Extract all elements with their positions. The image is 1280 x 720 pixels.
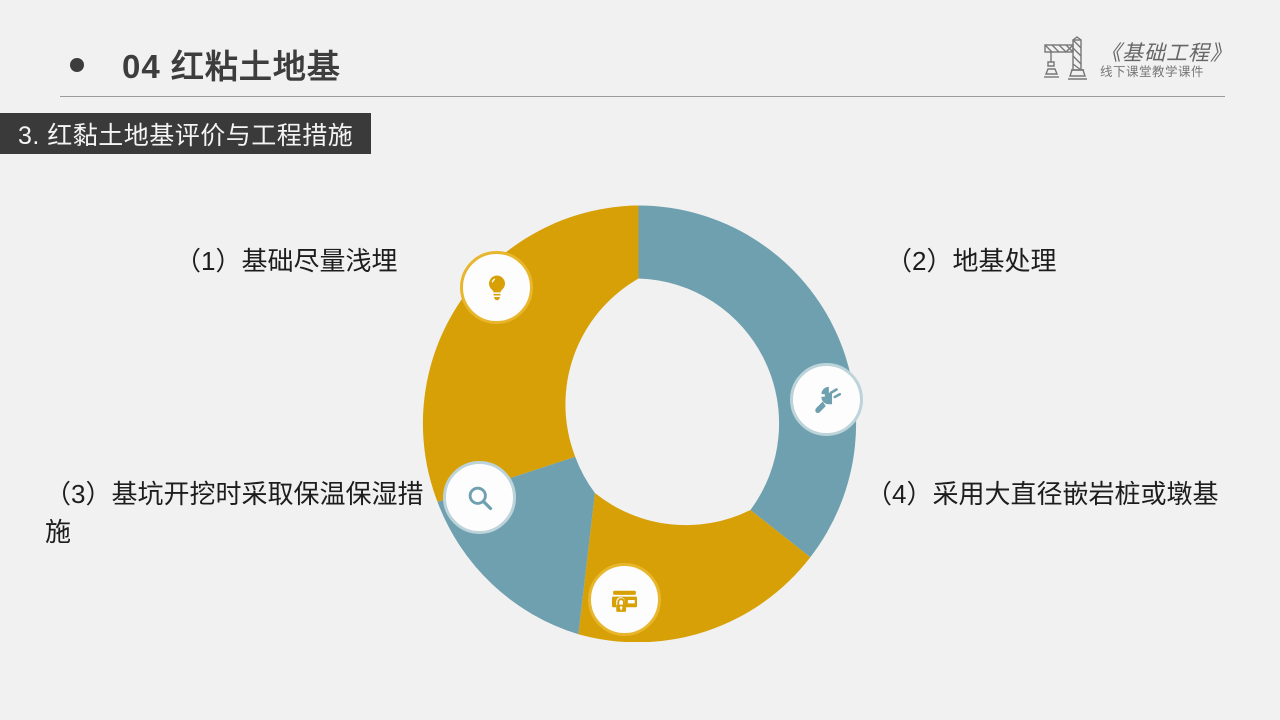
course-logo: 《基础工程》 线下课堂教学课件 bbox=[1042, 36, 1232, 84]
donut-segment-gold-left-top bbox=[423, 206, 639, 502]
card-lock-icon-badge[interactable] bbox=[588, 563, 661, 636]
bulb-icon bbox=[482, 273, 512, 303]
card-lock-icon bbox=[609, 584, 640, 615]
callout-label-2: （2）地基处理 bbox=[886, 243, 1056, 281]
header-divider bbox=[60, 96, 1225, 97]
search-icon-badge[interactable] bbox=[443, 461, 516, 534]
callout-label-3: （3）基坑开挖时采取保温保湿措施 bbox=[45, 476, 435, 551]
crane-icon bbox=[1042, 36, 1094, 84]
bulb-icon-badge[interactable] bbox=[460, 251, 533, 324]
search-icon bbox=[465, 483, 495, 513]
section-banner-label: 3. 红黏土地基评价与工程措施 bbox=[18, 116, 353, 152]
section-banner: 3. 红黏土地基评价与工程措施 bbox=[0, 113, 371, 154]
plug-icon-badge[interactable] bbox=[790, 363, 863, 436]
callout-label-4: （4）采用大直径嵌岩桩或墩基 bbox=[866, 476, 1246, 514]
plug-icon bbox=[812, 385, 842, 415]
bullet-dot-icon bbox=[70, 58, 84, 72]
callout-label-1: （1）基础尽量浅埋 bbox=[175, 243, 397, 281]
page-title: 04 红粘土地基 bbox=[122, 40, 341, 88]
logo-subtitle: 线下课堂教学课件 bbox=[1100, 65, 1232, 79]
logo-title: 《基础工程》 bbox=[1100, 41, 1232, 65]
logo-text-block: 《基础工程》 线下课堂教学课件 bbox=[1100, 41, 1232, 80]
